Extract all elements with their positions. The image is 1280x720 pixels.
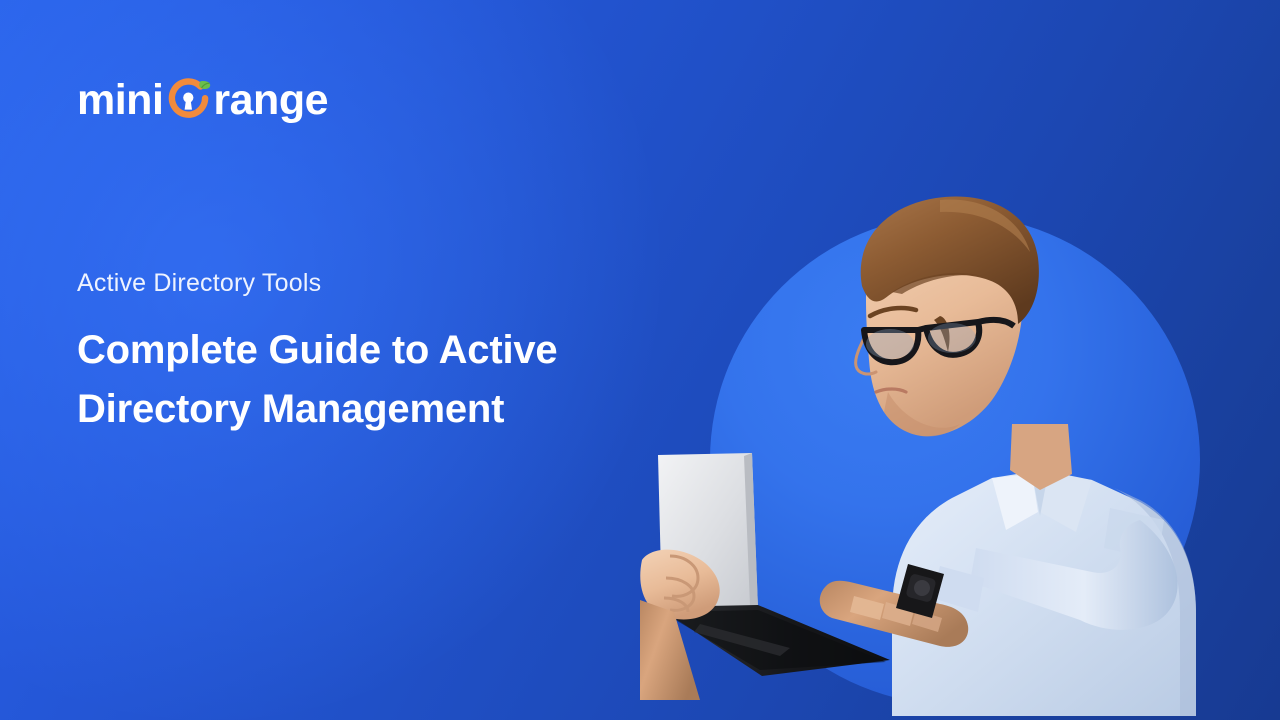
hero-headline-line-2: Directory Management bbox=[77, 380, 717, 438]
hero-headline-line-1: Complete Guide to Active bbox=[77, 321, 717, 379]
logo-text-range: range bbox=[213, 79, 328, 122]
brand-logo[interactable]: mini range bbox=[77, 72, 328, 128]
logo-text-mini: mini bbox=[77, 79, 163, 122]
hero-banner: mini range Active Directory Tools Comple… bbox=[0, 0, 1280, 720]
hero-copy: Active Directory Tools Complete Guide to… bbox=[77, 268, 717, 438]
hero-illustration bbox=[640, 0, 1280, 720]
person-with-laptop-image bbox=[640, 0, 1280, 720]
hero-headline: Complete Guide to Active Directory Manag… bbox=[77, 321, 717, 438]
orange-padlock-keyhole-icon bbox=[165, 77, 212, 124]
hero-eyebrow: Active Directory Tools bbox=[77, 268, 717, 299]
